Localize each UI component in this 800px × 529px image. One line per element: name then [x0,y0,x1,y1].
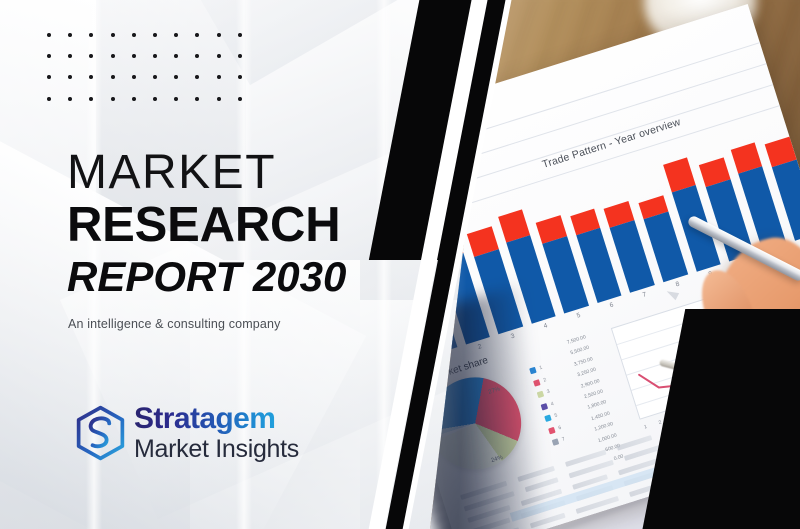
cover-title-block: MARKET RESEARCH REPORT 2030 [67,148,346,302]
logo-name-primary: Stratagem [134,404,299,434]
company-tagline: An intelligence & consulting company [68,317,280,331]
stratagem-hexagon-s-icon [74,405,127,461]
logo-name-secondary: Market Insights [134,437,299,462]
title-line-report-year: REPORT 2030 [67,252,346,302]
stratagem-wordmark: Stratagem Market Insights [134,404,299,462]
report-cover: MARKET RESEARCH REPORT 2030 An intellige… [0,0,800,529]
dot-grid-decoration [47,33,259,118]
title-line-research: RESEARCH [67,198,346,252]
stratagem-logo: Stratagem Market Insights [74,404,299,462]
title-line-market: MARKET [67,148,346,198]
